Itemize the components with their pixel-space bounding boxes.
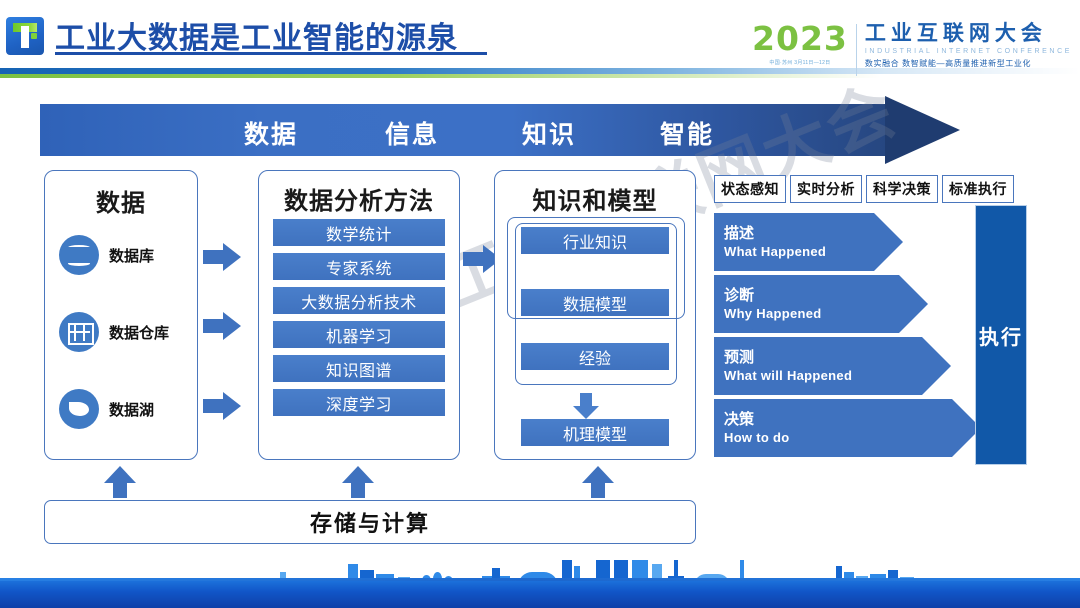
tab-realtime-analysis[interactable]: 实时分析: [790, 175, 862, 203]
panel-methods-title: 数据分析方法: [259, 181, 459, 216]
conference-divider: [856, 24, 857, 76]
panel-data-title: 数据: [45, 183, 197, 218]
knowledge-output: 机理模型: [521, 419, 669, 446]
knowledge-item: 经验: [521, 343, 669, 370]
flow-stage-information: 信息: [385, 115, 439, 151]
knowledge-item: 行业知识: [521, 227, 669, 254]
conference-name-en: INDUSTRIAL INTERNET CONFERENCE: [865, 48, 1072, 55]
tii-logo-icon: [6, 17, 44, 55]
conference-slogan: 数实融合 数智赋能—高质量推进新型工业化: [865, 58, 1072, 69]
storage-compute-label: 存储与计算: [310, 506, 430, 538]
chevron-subtitle: What Happened: [724, 243, 874, 260]
knowledge-item: 数据模型: [521, 289, 669, 316]
data-source-label: 数据库: [109, 245, 154, 266]
tab-state-awareness[interactable]: 状态感知: [714, 175, 786, 203]
chevron-subtitle: What will Happened: [724, 367, 922, 384]
chevron-describe: 描述 What Happened: [714, 213, 874, 271]
storage-compute-bar: 存储与计算: [44, 500, 696, 544]
method-item: 大数据分析技术: [273, 287, 445, 314]
chevron-title: 描述: [724, 225, 874, 243]
flow-band-labels: 数据 信息 知识 智能: [40, 104, 895, 156]
method-item: 数学统计: [273, 219, 445, 246]
footer-skyline: [0, 560, 1080, 608]
conference-date: 中国·苏州 3月11日—12日: [769, 59, 830, 66]
panel-knowledge-title: 知识和模型: [495, 181, 695, 216]
flow-stage-intelligence: 智能: [660, 115, 714, 151]
header-divider-green: [0, 74, 880, 78]
flow-stage-knowledge: 知识: [522, 115, 576, 151]
method-item: 机器学习: [273, 321, 445, 348]
data-lake-icon: [59, 389, 99, 429]
chevron-title: 诊断: [724, 287, 899, 305]
panel-knowledge: 知识和模型 行业知识 数据模型 经验 机理模型: [494, 170, 696, 460]
method-item: 深度学习: [273, 389, 445, 416]
method-item: 专家系统: [273, 253, 445, 280]
data-source-label: 数据仓库: [109, 322, 169, 343]
tab-standard-execution[interactable]: 标准执行: [942, 175, 1014, 203]
data-source-lake: 数据湖: [59, 389, 154, 429]
conference-logo: 2023 中国·苏州 3月11日—12日 工业互联网大会 INDUSTRIAL …: [752, 22, 1072, 78]
chevron-diagnose: 诊断 Why Happened: [714, 275, 899, 333]
chevron-subtitle: How to do: [724, 429, 952, 446]
data-source-label: 数据湖: [109, 399, 154, 420]
chevron-subtitle: Why Happened: [724, 305, 899, 322]
flow-stage-data: 数据: [244, 115, 298, 151]
chevron-title: 决策: [724, 411, 952, 429]
flow-band-arrowhead-icon: [885, 96, 960, 164]
chevron-decide: 决策 How to do: [714, 399, 952, 457]
data-source-warehouse: 数据仓库: [59, 312, 169, 352]
warehouse-icon: [59, 312, 99, 352]
database-icon: [59, 235, 99, 275]
conference-name-cn: 工业互联网大会: [865, 22, 1072, 46]
footer-sea-band: [0, 578, 1080, 608]
capability-tabs: 状态感知 实时分析 科学决策 标准执行: [714, 175, 1014, 203]
panel-methods: 数据分析方法 数学统计 专家系统 大数据分析技术 机器学习 知识图谱 深度学习: [258, 170, 460, 460]
execute-label: 执行: [979, 321, 1023, 350]
flow-arrow-band: 数据 信息 知识 智能: [40, 104, 960, 156]
tab-scientific-decision[interactable]: 科学决策: [866, 175, 938, 203]
panel-data: 数据 数据库 数据仓库 数据湖: [44, 170, 198, 460]
title-underline: [55, 52, 487, 55]
chevron-title: 预测: [724, 349, 922, 367]
method-item: 知识图谱: [273, 355, 445, 382]
conference-year: 2023: [752, 22, 848, 56]
chevron-predict: 预测 What will Happened: [714, 337, 922, 395]
page-header: 工业大数据是工业智能的源泉 2023 中国·苏州 3月11日—12日 工业互联网…: [0, 0, 1080, 92]
page-title: 工业大数据是工业智能的源泉: [55, 13, 458, 57]
execute-bar: 执行: [975, 205, 1027, 465]
data-source-database: 数据库: [59, 235, 154, 275]
